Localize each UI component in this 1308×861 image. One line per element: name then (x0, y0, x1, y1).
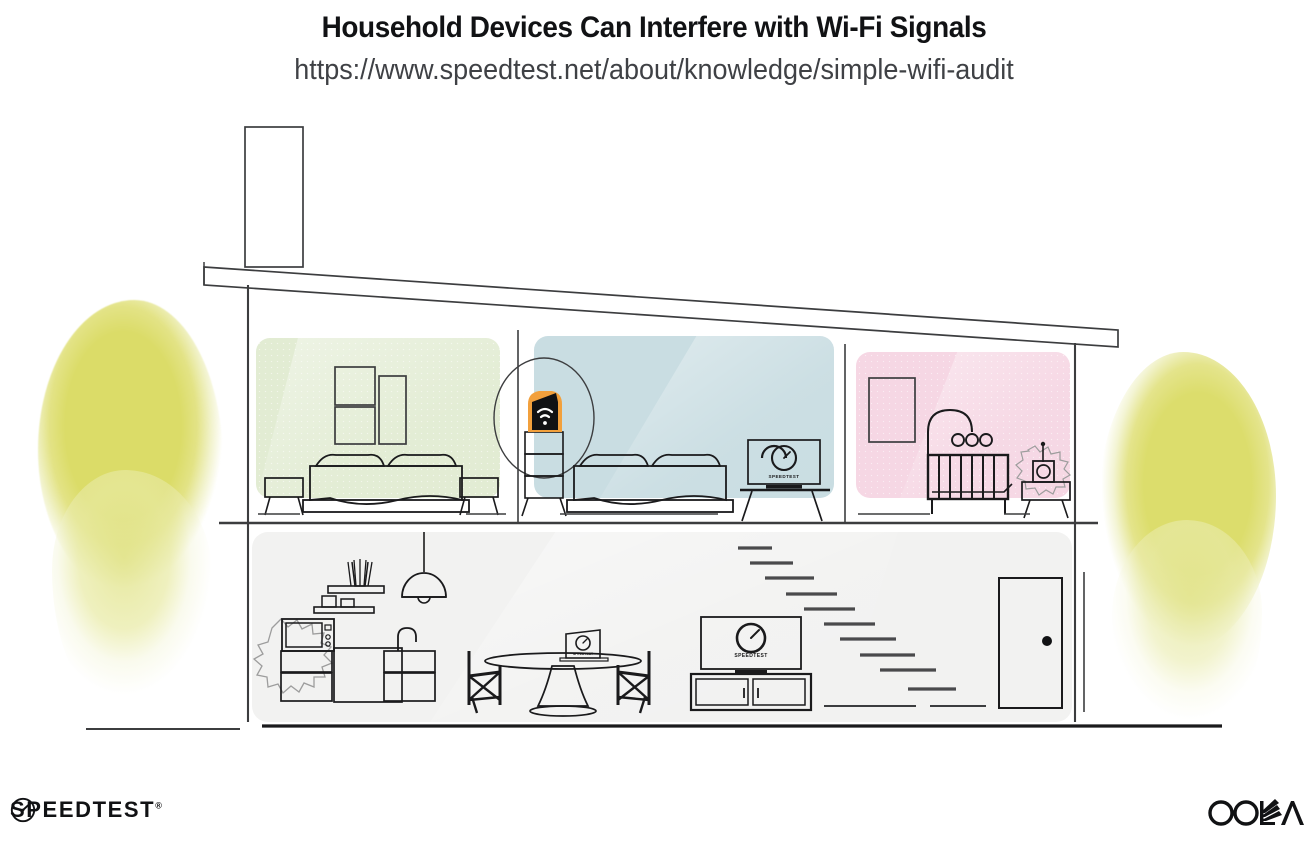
ookla-o-1 (1210, 802, 1232, 824)
tv-stand (766, 485, 802, 489)
roof-structure (204, 127, 1118, 347)
ookla-wordmark (1205, 795, 1308, 829)
monitor-antenna-tip (1041, 442, 1045, 446)
speedtest-gauge-icon (10, 797, 36, 823)
illustration-stage: Household Devices Can Interfere with Wi-… (0, 0, 1308, 861)
room-bedroom-middle: SPEEDTEST (494, 330, 845, 523)
chimney (245, 127, 303, 267)
roof-slab (204, 267, 1118, 347)
room-lower-floor: SPEEDTEST (252, 525, 1072, 722)
room-nursery-right (856, 345, 1075, 518)
ookla-a (1281, 801, 1304, 825)
speedtest-logo[interactable]: SPEEDTEST® (10, 797, 162, 823)
wifi-router[interactable] (528, 391, 562, 432)
ookla-o-2 (1235, 802, 1257, 824)
tv-brand-label: SPEEDTEST (769, 474, 800, 479)
room-bedroom-left (256, 330, 520, 523)
house-illustration: SPEEDTEST (0, 0, 1308, 861)
tv-brand-label: SPEEDTEST (734, 653, 767, 659)
door-knob[interactable] (1042, 636, 1052, 646)
registered-mark: ® (155, 801, 162, 811)
